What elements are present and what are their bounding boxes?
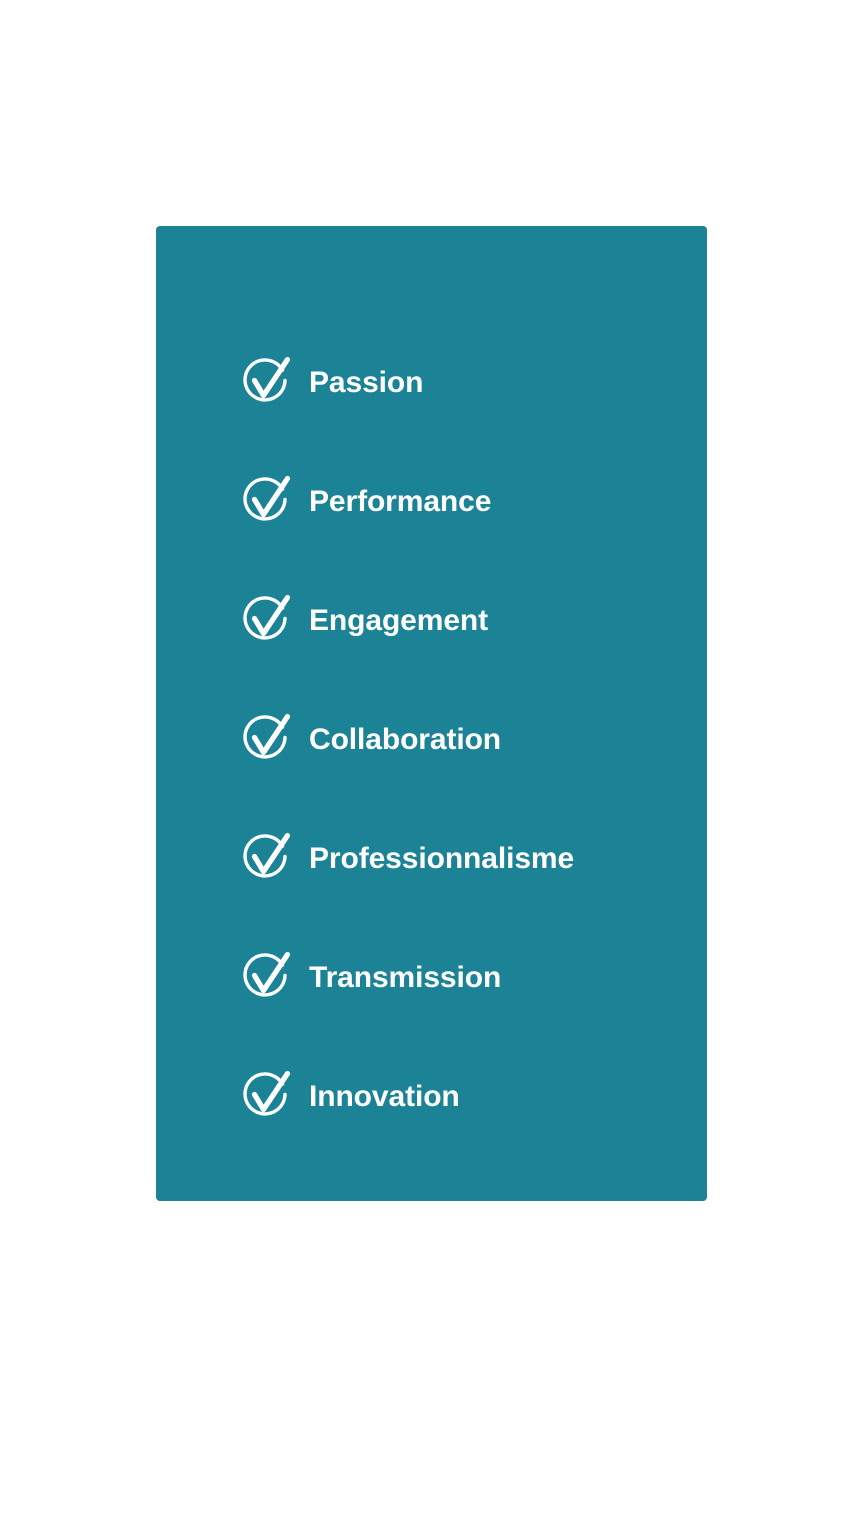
check-circle-icon <box>241 476 289 526</box>
list-item: Professionnalisme <box>241 799 707 918</box>
list-item: Innovation <box>241 1037 707 1156</box>
check-circle-icon <box>241 714 289 764</box>
list-item: Passion <box>241 323 707 442</box>
list-item: Transmission <box>241 918 707 1037</box>
value-label: Professionnalisme <box>309 844 574 874</box>
list-item: Engagement <box>241 561 707 680</box>
value-label: Performance <box>309 487 491 517</box>
check-circle-icon <box>241 1071 289 1121</box>
check-circle-icon <box>241 833 289 883</box>
values-panel: Passion Performance Engagement Collabora… <box>156 226 707 1201</box>
check-circle-icon <box>241 952 289 1002</box>
check-circle-icon <box>241 357 289 407</box>
value-label: Engagement <box>309 606 488 636</box>
list-item: Collaboration <box>241 680 707 799</box>
value-label: Collaboration <box>309 725 501 755</box>
value-label: Passion <box>309 368 423 398</box>
list-item: Performance <box>241 442 707 561</box>
value-label: Innovation <box>309 1082 460 1112</box>
value-label: Transmission <box>309 963 501 993</box>
check-circle-icon <box>241 595 289 645</box>
